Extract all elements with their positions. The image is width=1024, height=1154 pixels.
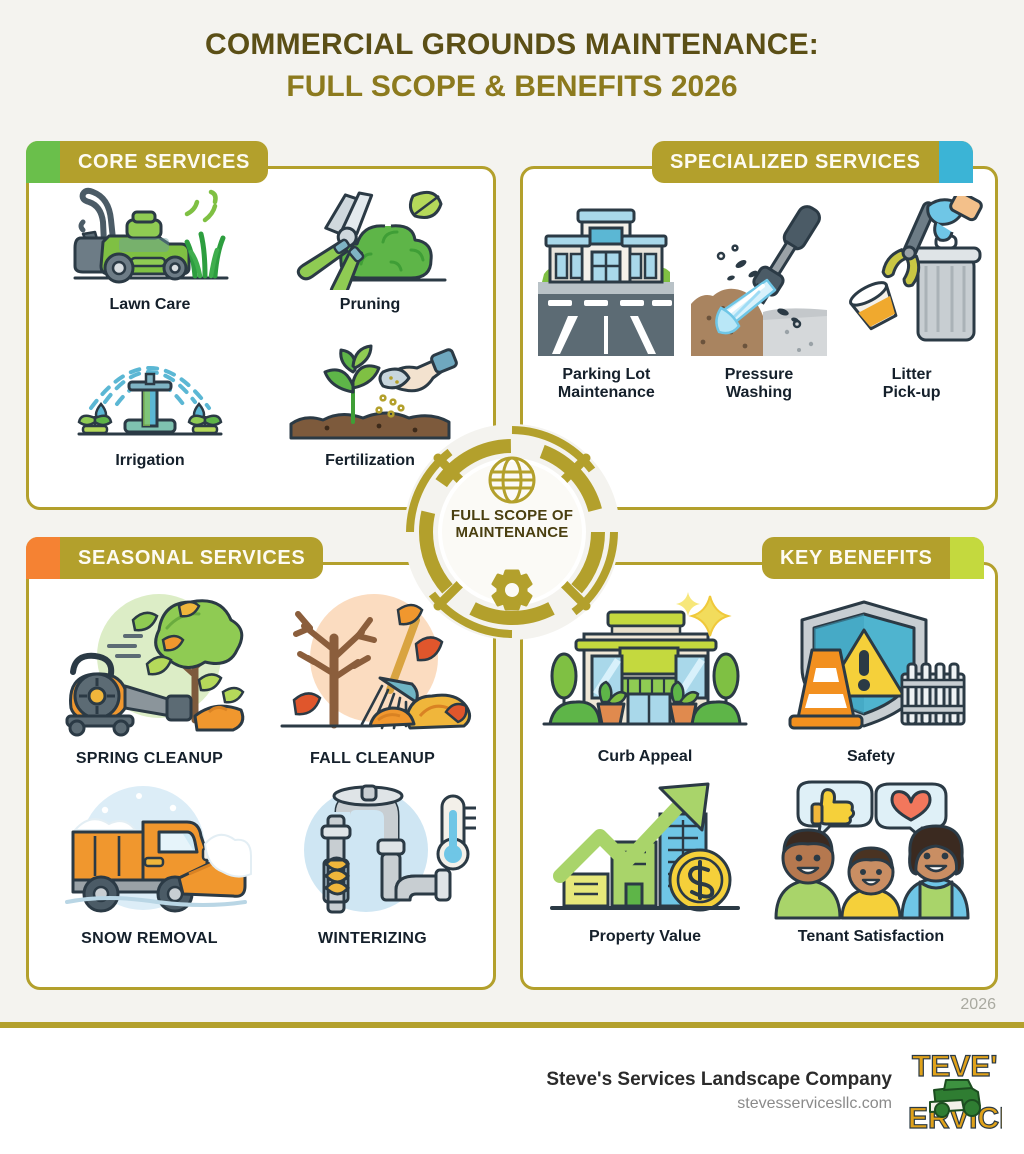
hub-label-line-1: FULL SCOPE OF bbox=[404, 508, 620, 525]
section-header-seasonal-label: SEASONAL SERVICES bbox=[60, 547, 323, 570]
item-parking-lot-maintenance[interactable]: Parking Lot Maintenance bbox=[530, 196, 683, 416]
infographic-page: COMMERCIAL GROUNDS MAINTENANCE: FULL SCO… bbox=[0, 0, 1024, 1154]
item-label-fall-cleanup: FALL CLEANUP bbox=[310, 750, 435, 768]
gear-icon bbox=[493, 571, 531, 609]
pressure-washer-icon bbox=[687, 196, 831, 360]
item-label-safety: Safety bbox=[847, 748, 895, 766]
grid-seasonal-services: SPRING CLEANUP bbox=[38, 592, 484, 962]
lawn-mower-icon bbox=[65, 180, 235, 290]
section-header-specialized-label: SPECIALIZED SERVICES bbox=[652, 151, 939, 174]
litter-grabber-icon bbox=[840, 196, 984, 360]
pruning-shears-icon bbox=[285, 180, 455, 290]
parking-lot-icon bbox=[534, 196, 678, 360]
faucet-thermometer-icon bbox=[270, 782, 476, 924]
logo-top-text: TEVE' bbox=[912, 1050, 998, 1083]
grid-specialized-services: Parking Lot Maintenance bbox=[530, 196, 988, 416]
item-label-irrigation: Irrigation bbox=[115, 452, 184, 470]
accent-bar-specialized bbox=[939, 141, 973, 183]
family-feedback-icon bbox=[768, 780, 974, 922]
accent-bar-benefits bbox=[950, 537, 984, 579]
section-header-specialized-services[interactable]: SPECIALIZED SERVICES bbox=[652, 141, 973, 183]
section-header-core-label: CORE SERVICES bbox=[60, 151, 268, 174]
accent-bar-core bbox=[26, 141, 60, 183]
item-lawn-care[interactable]: Lawn Care bbox=[40, 180, 260, 338]
leaf-blower-icon bbox=[47, 592, 253, 744]
footer-company-name: Steve's Services Landscape Company bbox=[546, 1069, 892, 1091]
item-litter-pickup[interactable]: Litter Pick-up bbox=[835, 196, 988, 416]
item-label-tenant-satisfaction: Tenant Satisfaction bbox=[798, 928, 944, 946]
footer: Steve's Services Landscape Company steve… bbox=[0, 1028, 1024, 1154]
item-safety[interactable]: Safety bbox=[758, 590, 984, 780]
section-header-core-services[interactable]: CORE SERVICES bbox=[26, 141, 268, 183]
item-label-winterizing: WINTERIZING bbox=[318, 930, 427, 948]
item-label-snow-removal: SNOW REMOVAL bbox=[81, 930, 218, 948]
title-line-2: FULL SCOPE & BENEFITS 2026 bbox=[0, 70, 1024, 104]
item-tenant-satisfaction[interactable]: Tenant Satisfaction bbox=[758, 780, 984, 960]
hub-label: FULL SCOPE OF MAINTENANCE bbox=[404, 508, 620, 542]
item-spring-cleanup[interactable]: SPRING CLEANUP bbox=[38, 592, 261, 782]
item-snow-removal[interactable]: SNOW REMOVAL bbox=[38, 782, 261, 962]
shield-cone-fence-icon bbox=[768, 590, 974, 742]
mower-logo-icon: TEVE' ERVICE bbox=[906, 1046, 1002, 1136]
title-line-1: COMMERCIAL GROUNDS MAINTENANCE: bbox=[0, 28, 1024, 62]
item-irrigation[interactable]: Irrigation bbox=[40, 338, 260, 486]
accent-bar-seasonal bbox=[26, 537, 60, 579]
year-label: 2026 bbox=[960, 996, 996, 1014]
section-header-seasonal-services[interactable]: SEASONAL SERVICES bbox=[26, 537, 323, 579]
snow-plow-truck-icon bbox=[47, 782, 253, 924]
item-label-lawn-care: Lawn Care bbox=[110, 296, 191, 314]
item-label-pruning: Pruning bbox=[340, 296, 400, 314]
item-pressure-washing[interactable]: Pressure Washing bbox=[683, 196, 836, 416]
sprinkler-icon bbox=[65, 338, 235, 446]
section-header-benefits-label: KEY BENEFITS bbox=[762, 547, 950, 570]
item-label-litter-pickup: Litter Pick-up bbox=[883, 366, 941, 403]
item-label-spring-cleanup: SPRING CLEANUP bbox=[76, 750, 223, 768]
item-pruning[interactable]: Pruning bbox=[260, 180, 480, 338]
item-label-parking-lot: Parking Lot Maintenance bbox=[558, 366, 655, 403]
footer-text-block: Steve's Services Landscape Company steve… bbox=[546, 1069, 892, 1113]
center-hub: FULL SCOPE OF MAINTENANCE bbox=[404, 424, 620, 640]
item-label-curb-appeal: Curb Appeal bbox=[598, 748, 693, 766]
grid-key-benefits: Curb Appeal bbox=[532, 590, 984, 960]
item-label-pressure-washing: Pressure Washing bbox=[725, 366, 794, 403]
hub-label-line-2: MAINTENANCE bbox=[404, 525, 620, 542]
item-winterizing[interactable]: WINTERIZING bbox=[261, 782, 484, 962]
item-property-value[interactable]: Property Value bbox=[532, 780, 758, 960]
footer-website-url[interactable]: stevesservicesllc.com bbox=[546, 1095, 892, 1113]
growth-chart-coin-icon bbox=[542, 780, 748, 922]
section-header-key-benefits[interactable]: KEY BENEFITS bbox=[762, 537, 984, 579]
item-label-fertilization: Fertilization bbox=[325, 452, 415, 470]
item-label-property-value: Property Value bbox=[589, 928, 701, 946]
page-title: COMMERCIAL GROUNDS MAINTENANCE: FULL SCO… bbox=[0, 28, 1024, 104]
